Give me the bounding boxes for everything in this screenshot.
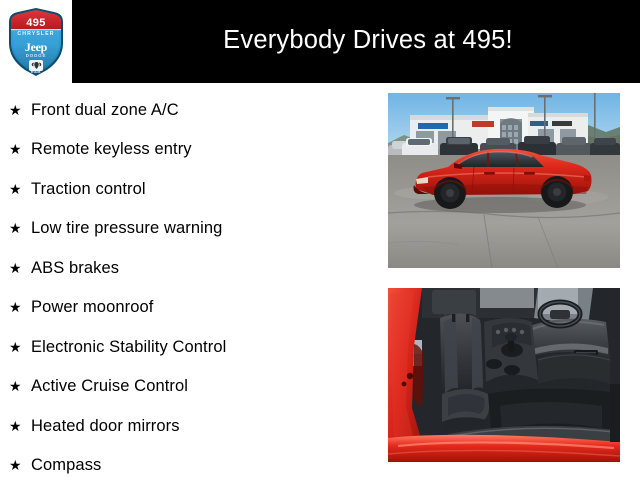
feature-label: Compass: [31, 456, 101, 474]
vehicle-interior-photo: [388, 288, 620, 462]
star-icon: ★: [9, 379, 31, 393]
list-item: ★ Traction control: [0, 169, 375, 209]
feature-label: Heated door mirrors: [31, 417, 180, 435]
shield-brand-dodge: DODGE: [7, 54, 65, 58]
page-title: Everybody Drives at 495!: [96, 0, 640, 83]
star-icon: ★: [9, 419, 31, 433]
header-bar: 495 CHRYSLER Jeep DODGE RAM Everybody Dr…: [0, 0, 640, 83]
list-item: ★ Low tire pressure warning: [0, 209, 375, 249]
dealer-logo: 495 CHRYSLER Jeep DODGE RAM: [0, 0, 72, 83]
star-icon: ★: [9, 458, 31, 472]
ram-head-icon: [29, 60, 43, 71]
star-icon: ★: [9, 182, 31, 196]
feature-label: ABS brakes: [31, 259, 119, 277]
feature-label: Traction control: [31, 180, 146, 198]
star-icon: ★: [9, 261, 31, 275]
vehicle-exterior-photo: [388, 93, 620, 268]
shield-brand-ram: RAM: [7, 71, 65, 75]
feature-list: ★ Front dual zone A/C ★ Remote keyless e…: [0, 83, 375, 480]
star-icon: ★: [9, 340, 31, 354]
shield-brand-jeep: Jeep: [7, 41, 65, 53]
feature-label: Low tire pressure warning: [31, 219, 222, 237]
list-item: ★ Remote keyless entry: [0, 130, 375, 170]
list-item: ★ Electronic Stability Control: [0, 327, 375, 367]
feature-label: Active Cruise Control: [31, 377, 188, 395]
feature-label: Front dual zone A/C: [31, 101, 179, 119]
feature-label: Electronic Stability Control: [31, 338, 226, 356]
list-item: ★ Front dual zone A/C: [0, 90, 375, 130]
shield-route-number: 495: [7, 18, 65, 29]
feature-label: Remote keyless entry: [31, 140, 192, 158]
star-icon: ★: [9, 103, 31, 117]
list-item: ★ Heated door mirrors: [0, 406, 375, 446]
list-item: ★ Power moonroof: [0, 288, 375, 328]
highway-shield-icon: 495 CHRYSLER Jeep DODGE RAM: [7, 7, 65, 77]
list-item: ★ Compass: [0, 446, 375, 480]
star-icon: ★: [9, 142, 31, 156]
star-icon: ★: [9, 300, 31, 314]
slide-canvas: 495 CHRYSLER Jeep DODGE RAM Everybody Dr…: [0, 0, 640, 480]
list-item: ★ ABS brakes: [0, 248, 375, 288]
star-icon: ★: [9, 221, 31, 235]
list-item: ★ Active Cruise Control: [0, 367, 375, 407]
shield-brand-chrysler: CHRYSLER: [7, 32, 65, 37]
feature-label: Power moonroof: [31, 298, 153, 316]
